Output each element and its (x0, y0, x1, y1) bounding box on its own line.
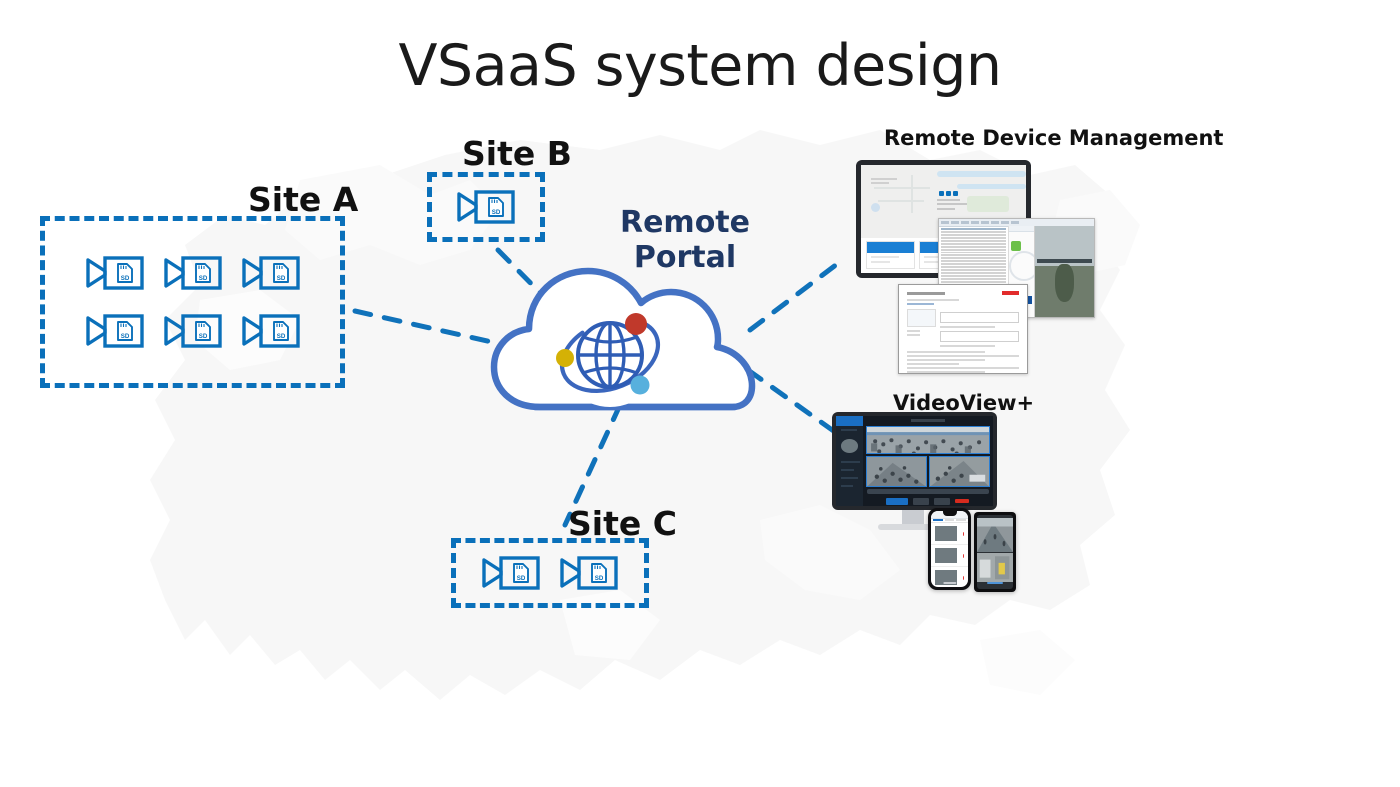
video-tile[interactable] (866, 456, 927, 487)
cloud-remote-portal[interactable] (480, 255, 770, 430)
video-tile[interactable] (977, 518, 1013, 552)
site-b-camera-grid: SD (427, 172, 545, 242)
videoview-monitor[interactable] (832, 412, 997, 510)
videoview-screen (836, 416, 993, 506)
camera-thumbnail (841, 439, 859, 453)
svg-text:SD: SD (276, 275, 285, 282)
list-item[interactable] (931, 567, 968, 587)
videoview-sidebar[interactable] (836, 416, 863, 506)
camera-sd-icon[interactable]: SD (163, 251, 223, 295)
svg-text:SD: SD (198, 333, 207, 340)
camera-sd-icon[interactable]: SD (559, 551, 619, 595)
remote-portal-line2: Portal (634, 240, 736, 275)
orbit-dot-red (625, 313, 647, 335)
remote-portal-line1: Remote (620, 205, 750, 240)
camera-sd-icon[interactable]: SD (85, 251, 145, 295)
page-title: VSaaS system design (0, 34, 1400, 98)
site-c-box[interactable]: SD SD (451, 538, 649, 608)
phone-screen (977, 515, 1013, 589)
cloud-globe-icon (480, 255, 770, 430)
orbit-dot-cyan (631, 376, 650, 395)
svg-text:SD: SD (120, 275, 129, 282)
camera-sd-icon[interactable]: SD (481, 551, 541, 595)
phone-screen (931, 511, 968, 587)
slide-canvas: VSaaS system design Site A (0, 0, 1400, 787)
videoview-plus-mock (830, 412, 1030, 602)
svg-text:SD: SD (595, 575, 604, 582)
playback-controls[interactable] (863, 496, 993, 506)
orbit-dot-yellow (556, 349, 574, 367)
remote-device-management-mock (852, 160, 1092, 375)
phone-mockup-list[interactable] (928, 508, 971, 590)
site-c-label: Site C (568, 506, 677, 542)
device-video-preview (1034, 226, 1094, 317)
camera-sd-icon[interactable]: SD (241, 309, 301, 353)
svg-text:SD: SD (198, 275, 207, 282)
list-item[interactable] (931, 523, 968, 545)
site-a-label: Site A (248, 182, 358, 218)
list-item[interactable] (931, 545, 968, 567)
svg-text:SD: SD (517, 575, 526, 582)
camera-sd-icon[interactable]: SD (241, 251, 301, 295)
video-wall (866, 426, 990, 487)
camera-sd-icon[interactable]: SD (456, 185, 516, 229)
playback-timeline[interactable] (867, 489, 989, 494)
videoview-plus-title: VideoView+ (893, 391, 1034, 415)
video-tile[interactable] (929, 456, 990, 487)
rdm-map-markers (939, 191, 958, 196)
camera-sd-icon[interactable]: SD (163, 309, 223, 353)
video-tile[interactable] (866, 426, 990, 454)
svg-text:SD: SD (120, 333, 129, 340)
remote-portal-label: Remote Portal (600, 205, 770, 275)
site-b-label: Site B (462, 136, 572, 172)
site-b-box[interactable]: SD (427, 172, 545, 242)
site-a-camera-grid: SD SD SD (40, 216, 345, 388)
camera-sd-icon[interactable]: SD (85, 309, 145, 353)
site-c-camera-grid: SD SD (451, 538, 649, 608)
site-a-box[interactable]: SD SD SD (40, 216, 345, 388)
remote-device-management-title: Remote Device Management (884, 126, 1223, 150)
video-tile[interactable] (977, 553, 1013, 583)
rdm-config-document[interactable] (898, 284, 1028, 374)
svg-text:SD: SD (276, 333, 285, 340)
rdm-kpi-tile[interactable] (866, 241, 915, 269)
svg-text:SD: SD (492, 209, 501, 216)
phone-mockup-video[interactable] (974, 512, 1016, 592)
